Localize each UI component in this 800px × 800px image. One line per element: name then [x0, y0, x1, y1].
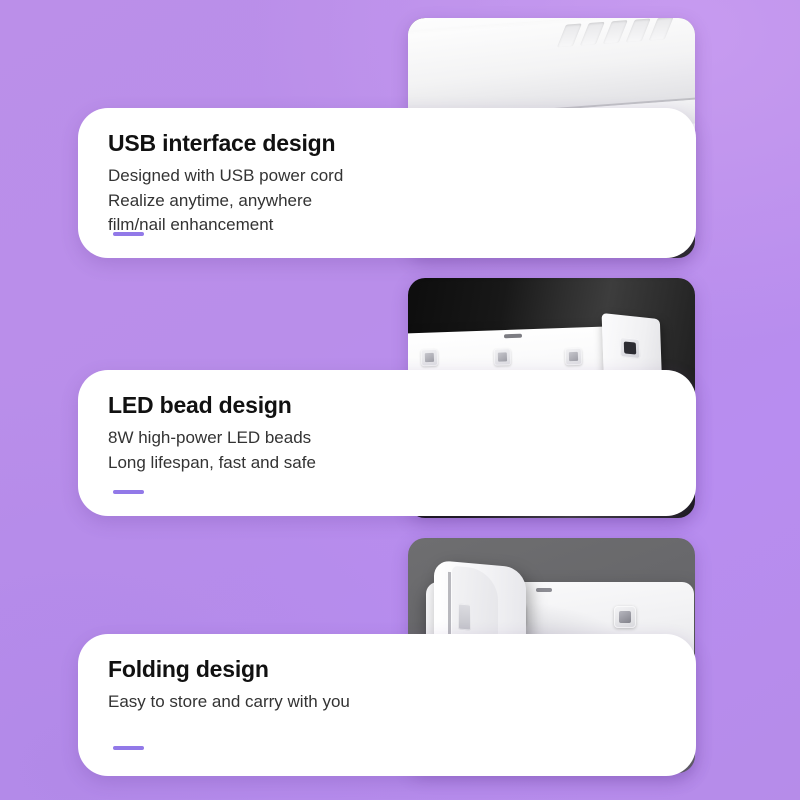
product-feature-infographic: USB interface design Designed with USB p… [0, 0, 800, 800]
feature-row-folding: Folding design Easy to store and carry w… [0, 522, 800, 800]
feature-row-usb-interface: USB interface design Designed with USB p… [0, 0, 800, 268]
feature-title: LED bead design [108, 392, 696, 419]
led-bead [421, 349, 439, 367]
feature-card-led-bead: LED bead design 8W high-power LED beads … [78, 370, 696, 516]
card-text-block: LED bead design 8W high-power LED beads … [108, 392, 696, 475]
lamp-notch [504, 334, 522, 339]
flap-led-bead [620, 337, 641, 359]
led-bead [565, 348, 583, 366]
accent-dash [113, 490, 144, 494]
feature-row-led-bead: LED bead design 8W high-power LED beads … [0, 262, 800, 530]
feature-title: USB interface design [108, 130, 696, 157]
feature-card-usb-interface: USB interface design Designed with USB p… [78, 108, 696, 258]
lamp-notch [536, 588, 552, 592]
card-text-block: USB interface design Designed with USB p… [108, 130, 696, 238]
feature-description: 8W high-power LED beads Long lifespan, f… [108, 426, 696, 475]
flap-led-bead [458, 603, 471, 630]
feature-description: Easy to store and carry with you [108, 690, 696, 715]
led-bead [494, 348, 512, 366]
accent-dash [113, 746, 144, 750]
feature-card-folding: Folding design Easy to store and carry w… [78, 634, 696, 776]
accent-dash [113, 232, 144, 236]
feature-title: Folding design [108, 656, 696, 683]
led-bead [614, 606, 636, 628]
feature-description: Designed with USB power cord Realize any… [108, 164, 696, 238]
card-text-block: Folding design Easy to store and carry w… [108, 656, 696, 715]
